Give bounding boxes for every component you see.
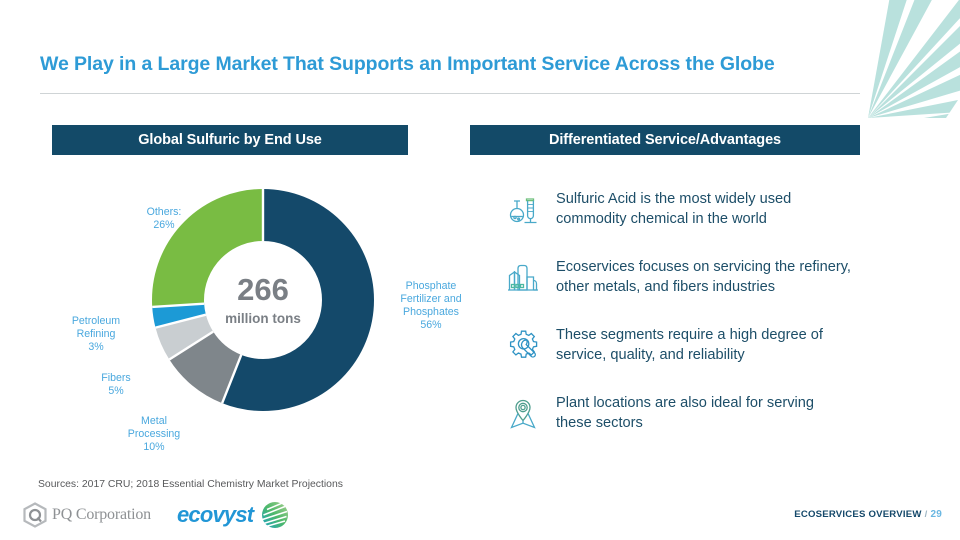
page-title: We Play in a Large Market That Supports … [40,53,870,76]
list-item-text: These segments require a high degree of … [556,321,823,365]
deck-label: ECOSERVICES OVERVIEW [794,509,921,520]
list-item: Plant locations are also ideal for servi… [500,389,920,439]
ecovyst-globe-icon [258,500,292,530]
ecovyst-wordmark: ecovyst [177,502,253,528]
chart-label-phosphate: Phosphate Fertilizer and Phosphates 56% [385,280,477,332]
ecovyst-logo: ecovyst [177,500,292,530]
sources-note: Sources: 2017 CRU; 2018 Essential Chemis… [38,479,343,490]
panel-header-left: Global Sulfuric by End Use [52,125,408,155]
chart-label-others: Others: 26% [118,206,210,232]
chart-label-fibers: Fibers 5% [80,372,152,398]
footer-separator: / [925,509,928,520]
chart-label-petroleum-refining: Petroleum Refining 3% [50,315,142,354]
list-item-text: Plant locations are also ideal for servi… [556,389,814,433]
list-item-text: Ecoservices focuses on servicing the ref… [556,253,851,297]
slide-canvas: We Play in a Large Market That Supports … [0,0,960,540]
factory-icon [500,253,546,303]
panel-header-right: Differentiated Service/Advantages [470,125,860,155]
list-item: These segments require a high degree of … [500,321,920,371]
list-item: Ecoservices focuses on servicing the ref… [500,253,920,303]
pq-hex-icon [22,502,48,528]
lab-flask-icon [500,185,546,235]
list-item: Sulfuric Acid is the most widely used co… [500,185,920,235]
pq-corporation-logo: PQ Corporation [22,502,151,528]
advantages-list: Sulfuric Acid is the most widely used co… [500,185,920,457]
logo-group: PQ Corporation ecovyst [22,500,292,530]
chart-label-metal-processing: Metal Processing 10% [110,415,198,454]
page-number: 29 [930,509,942,520]
list-item-text: Sulfuric Acid is the most widely used co… [556,185,791,229]
title-divider [40,93,860,94]
pq-wordmark: PQ Corporation [52,506,151,524]
gear-wrench-icon [500,321,546,371]
footer-deck-info: ECOSERVICES OVERVIEW / 29 [794,509,942,520]
donut-chart: 266 million tons Others: 26% Petroleum R… [40,175,470,470]
map-pin-icon [500,389,546,439]
